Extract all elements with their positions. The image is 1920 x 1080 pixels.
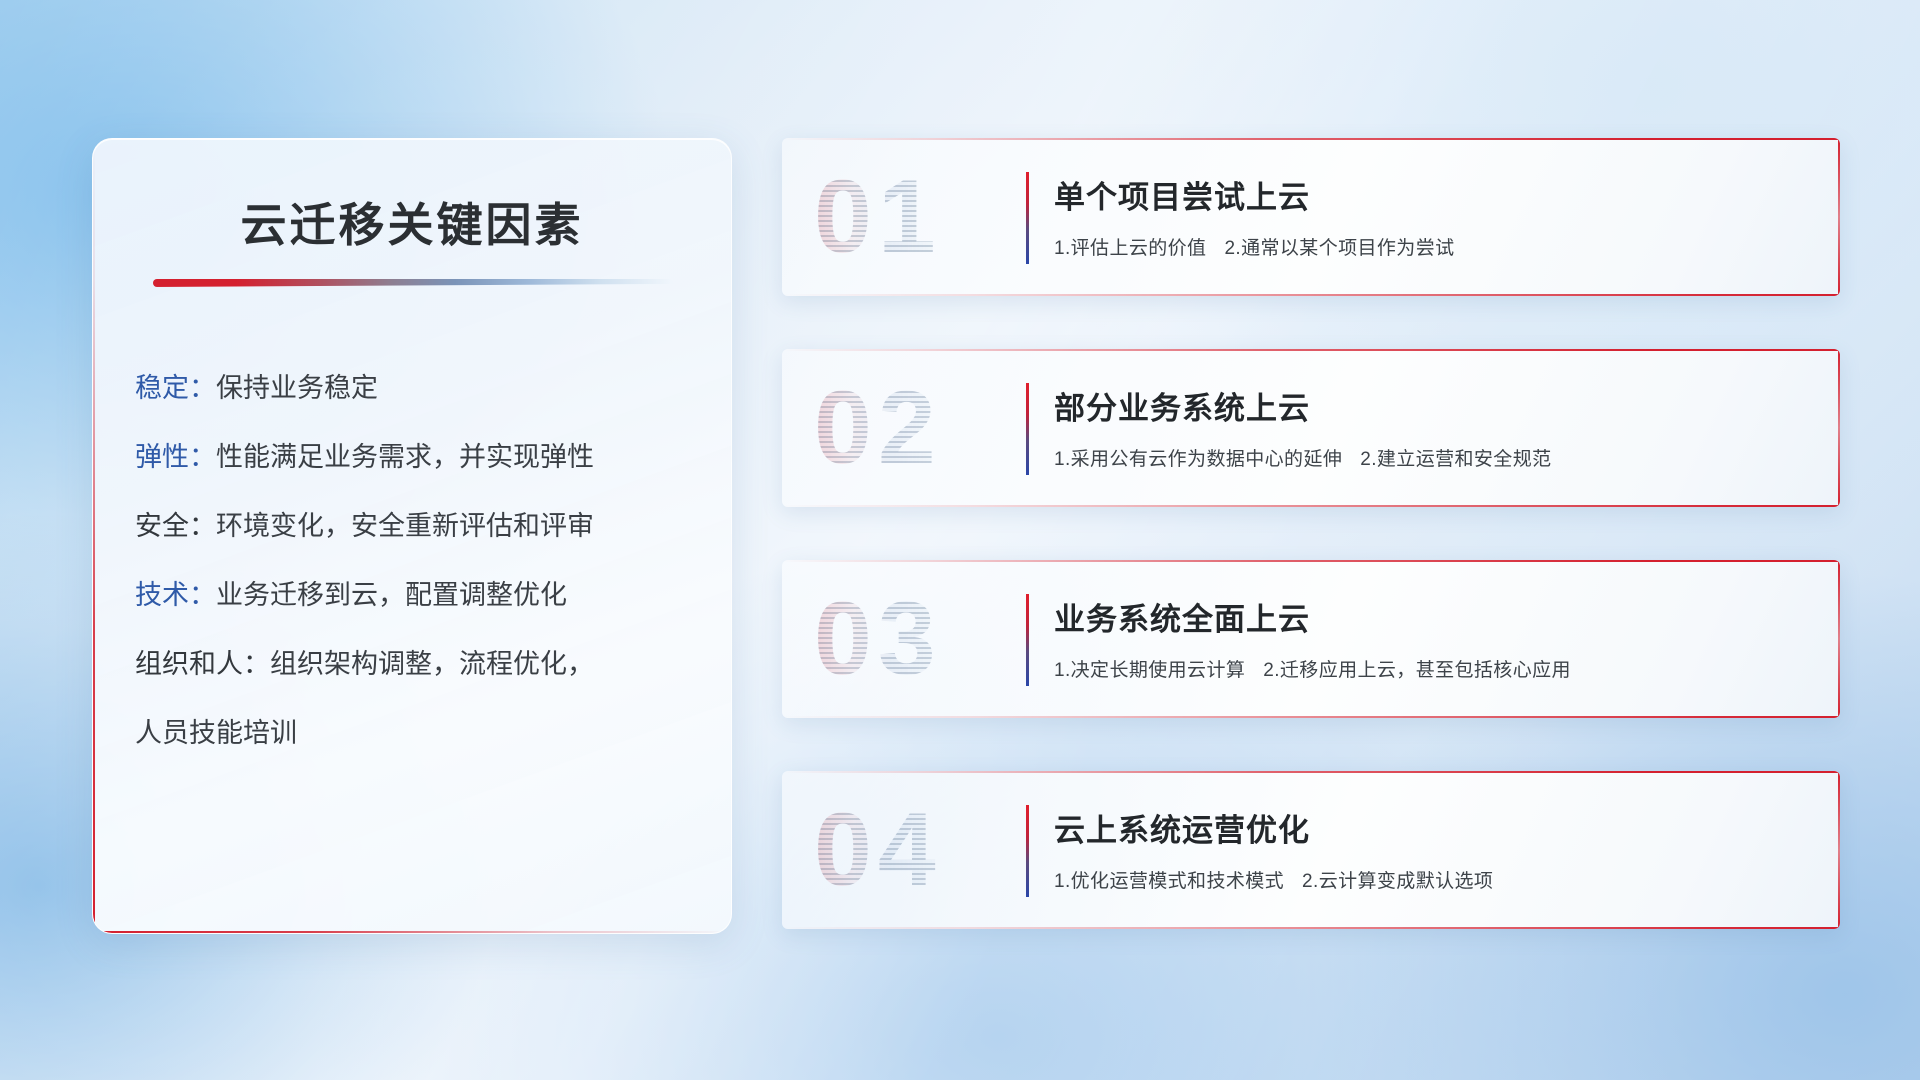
card-title: 单个项目尝试上云 [1054, 172, 1812, 217]
key-factors-panel: 云迁移关键因素 稳定：保持业务稳定 弹性：性能满足业务需求，并实现弹性 安全：环… [92, 138, 732, 934]
list-item-text: 保持业务稳定 [216, 373, 378, 403]
card-divider-line [1026, 805, 1029, 897]
card-right-accent [1838, 771, 1840, 929]
card-title: 部分业务系统上云 [1054, 383, 1812, 428]
card-divider-line [1026, 383, 1029, 475]
card-body: 部分业务系统上云 1.采用公有云作为数据中心的延伸2.建立运营和安全规范 [1054, 383, 1812, 471]
card-subtitle: 1.评估上云的价值2.通常以某个项目作为尝试 [1054, 233, 1812, 260]
card-subtitle: 1.优化运营模式和技术模式2.云计算变成默认选项 [1054, 866, 1812, 893]
card-point: 1.采用公有云作为数据中心的延伸 [1054, 449, 1342, 470]
card-right-accent [1838, 138, 1840, 296]
stage-card[interactable]: 01 01 单个项目尝试上云 1.评估上云的价值2.通常以某个项目作为尝试 [782, 138, 1840, 296]
card-point: 1.优化运营模式和技术模式 [1054, 871, 1284, 892]
card-bottom-accent [782, 294, 1840, 296]
card-subtitle: 1.采用公有云作为数据中心的延伸2.建立运营和安全规范 [1054, 444, 1812, 471]
list-item: 组织和人：组织架构调整，流程优化， [135, 651, 697, 678]
card-title: 业务系统全面上云 [1054, 594, 1812, 639]
list-item: 稳定：保持业务稳定 [135, 375, 697, 402]
card-bottom-accent [782, 927, 1840, 929]
list-item-label: 技术： [135, 580, 216, 610]
list-item: 弹性：性能满足业务需求，并实现弹性 [135, 444, 697, 471]
card-divider-line [1026, 594, 1029, 686]
migration-stage-cards: 01 01 单个项目尝试上云 1.评估上云的价值2.通常以某个项目作为尝试 02… [782, 138, 1840, 929]
list-item: 安全：环境变化，安全重新评估和评审 [135, 513, 697, 540]
list-item-text: 组织架构调整，流程优化， [270, 649, 594, 679]
card-body: 单个项目尝试上云 1.评估上云的价值2.通常以某个项目作为尝试 [1054, 172, 1812, 260]
list-item-text: 性能满足业务需求，并实现弹性 [216, 442, 594, 472]
card-body: 云上系统运营优化 1.优化运营模式和技术模式2.云计算变成默认选项 [1054, 805, 1812, 893]
stage-card[interactable]: 04 04 云上系统运营优化 1.优化运营模式和技术模式2.云计算变成默认选项 [782, 771, 1840, 929]
list-item-label: 弹性： [135, 442, 216, 472]
list-item-continuation: 人员技能培训 [135, 720, 697, 747]
list-item: 技术：业务迁移到云，配置调整优化 [135, 582, 697, 609]
card-bottom-accent [782, 505, 1840, 507]
card-body: 业务系统全面上云 1.决定长期使用云计算2.迁移应用上云，甚至包括核心应用 [1054, 594, 1812, 682]
card-point: 2.云计算变成默认选项 [1302, 871, 1493, 892]
card-number-glyph: 04 [814, 798, 942, 902]
card-number-glyph: 02 [814, 376, 942, 480]
card-top-accent [782, 138, 1840, 140]
list-item-text: 环境变化，安全重新评估和评审 [216, 511, 594, 541]
card-point: 1.决定长期使用云计算 [1054, 660, 1245, 681]
card-point: 2.迁移应用上云，甚至包括核心应用 [1263, 660, 1571, 681]
stage-card[interactable]: 03 03 业务系统全面上云 1.决定长期使用云计算2.迁移应用上云，甚至包括核… [782, 560, 1840, 718]
card-right-accent [1838, 560, 1840, 718]
list-item-label: 组织和人： [135, 649, 270, 679]
card-title: 云上系统运营优化 [1054, 805, 1812, 850]
list-item-label: 安全： [135, 511, 216, 541]
card-right-accent [1838, 349, 1840, 507]
card-subtitle: 1.决定长期使用云计算2.迁移应用上云，甚至包括核心应用 [1054, 655, 1812, 682]
panel-title: 云迁移关键因素 [93, 189, 731, 255]
list-item-text: 业务迁移到云，配置调整优化 [216, 580, 567, 610]
card-top-accent [782, 771, 1840, 773]
card-top-accent [782, 349, 1840, 351]
card-number-glyph: 03 [814, 587, 942, 691]
card-point: 1.评估上云的价值 [1054, 238, 1206, 259]
card-bottom-accent [782, 716, 1840, 718]
slide-stage: 云迁移关键因素 稳定：保持业务稳定 弹性：性能满足业务需求，并实现弹性 安全：环… [0, 0, 1920, 1080]
list-item-label: 稳定： [135, 373, 216, 403]
card-point: 2.通常以某个项目作为尝试 [1224, 238, 1454, 259]
card-top-accent [782, 560, 1840, 562]
card-number-glyph: 01 [814, 165, 942, 269]
card-divider-line [1026, 172, 1029, 264]
title-underline-gradient [153, 279, 673, 287]
card-point: 2.建立运营和安全规范 [1360, 449, 1551, 470]
key-factors-list: 稳定：保持业务稳定 弹性：性能满足业务需求，并实现弹性 安全：环境变化，安全重新… [135, 375, 697, 747]
stage-card[interactable]: 02 02 部分业务系统上云 1.采用公有云作为数据中心的延伸2.建立运营和安全… [782, 349, 1840, 507]
